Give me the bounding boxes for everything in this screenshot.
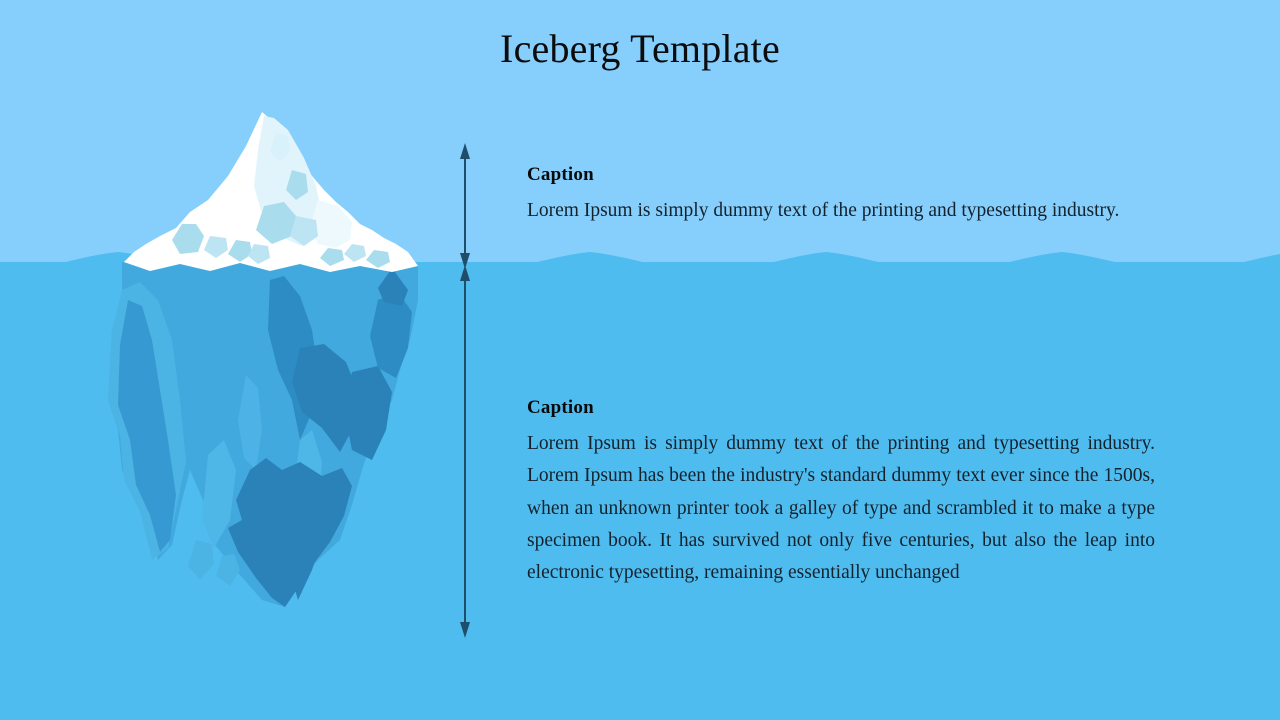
caption-body: Lorem Ipsum is simply dummy text of the … bbox=[527, 195, 1155, 227]
iceberg-slide: Iceberg Template Caption Lorem Ipsum is … bbox=[0, 0, 1280, 720]
caption-heading: Caption bbox=[527, 164, 1155, 186]
iceberg-illustration bbox=[0, 0, 1280, 720]
page-title: Iceberg Template bbox=[0, 26, 1280, 72]
caption-heading: Caption bbox=[527, 397, 1155, 419]
caption-block-below-water: Caption Lorem Ipsum is simply dummy text… bbox=[527, 397, 1155, 590]
caption-block-above-water: Caption Lorem Ipsum is simply dummy text… bbox=[527, 164, 1155, 227]
caption-body: Lorem Ipsum is simply dummy text of the … bbox=[527, 428, 1155, 590]
